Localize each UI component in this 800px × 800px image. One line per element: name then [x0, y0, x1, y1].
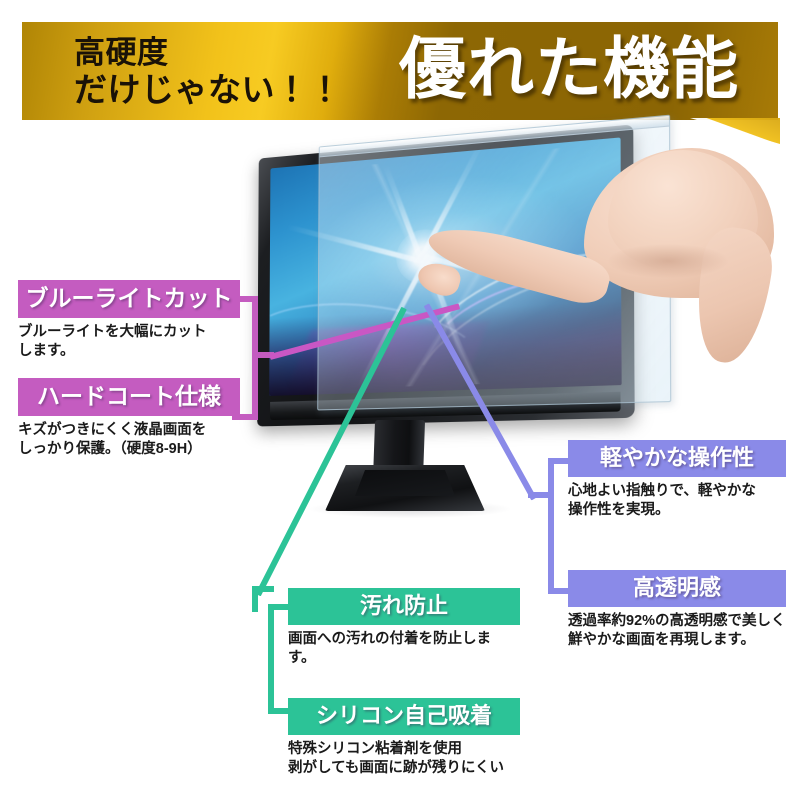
banner-left-line2: だけじゃない！！ [74, 72, 374, 108]
callout-light-operability: 軽やかな操作性 心地よい指触りで、軽やかな 操作性を実現。 [568, 440, 786, 519]
advertisement-page: 高硬度 だけじゃない！！ 優れた機能 [0, 0, 800, 800]
callout-title: 軽やかな操作性 [568, 440, 786, 477]
banner-title: 優れた機能 [374, 26, 764, 113]
callout-description: 透過率約92%の高透明感で美しく 鮮やかな画面を再現します。 [568, 612, 786, 649]
callout-description: ブルーライトを大幅にカット します。 [18, 323, 240, 360]
callout-hard-coat: ハードコート仕様 キズがつきにくく液晶画面を しっかり保護。（硬度8-9H） [18, 378, 240, 458]
hand-illustration [548, 148, 800, 363]
callout-title: 汚れ防止 [288, 588, 520, 625]
banner-left-line1: 高硬度 [74, 36, 374, 69]
callout-description: 心地よい指触りで、軽やかな 操作性を実現。 [568, 482, 786, 519]
banner-corner-fold-decoration [690, 118, 780, 144]
callout-title: 高透明感 [568, 570, 786, 607]
header-banner: 高硬度 だけじゃない！！ 優れた機能 [22, 22, 778, 120]
callout-high-transparency: 高透明感 透過率約92%の高透明感で美しく 鮮やかな画面を再現します。 [568, 570, 786, 649]
callout-title: ハードコート仕様 [18, 378, 240, 416]
callout-title: ブルーライトカット [18, 280, 240, 318]
callout-stain-prevention: 汚れ防止 画面への汚れの付着を防止しま す。 [288, 588, 520, 667]
callout-description: 画面への汚れの付着を防止しま す。 [288, 630, 520, 667]
callout-title: シリコン自己吸着 [288, 698, 520, 735]
banner-left-text: 高硬度 だけじゃない！！ [74, 36, 374, 108]
monitor-stand-base-inset [355, 470, 455, 496]
callout-description: 特殊シリコン粘着剤を使用 剥がしても画面に跡が残りにくい [288, 740, 520, 777]
connector-segment [548, 458, 554, 594]
hand-shading [608, 244, 728, 278]
callout-description: キズがつきにくく液晶画面を しっかり保護。（硬度8-9H） [18, 421, 240, 458]
callout-bluelight-cut: ブルーライトカット ブルーライトを大幅にカット します。 [18, 280, 240, 360]
connector-segment [268, 604, 274, 714]
callout-silicone-self-adhesion: シリコン自己吸着 特殊シリコン粘着剤を使用 剥がしても画面に跡が残りにくい [288, 698, 520, 777]
connector-segment [252, 296, 258, 420]
